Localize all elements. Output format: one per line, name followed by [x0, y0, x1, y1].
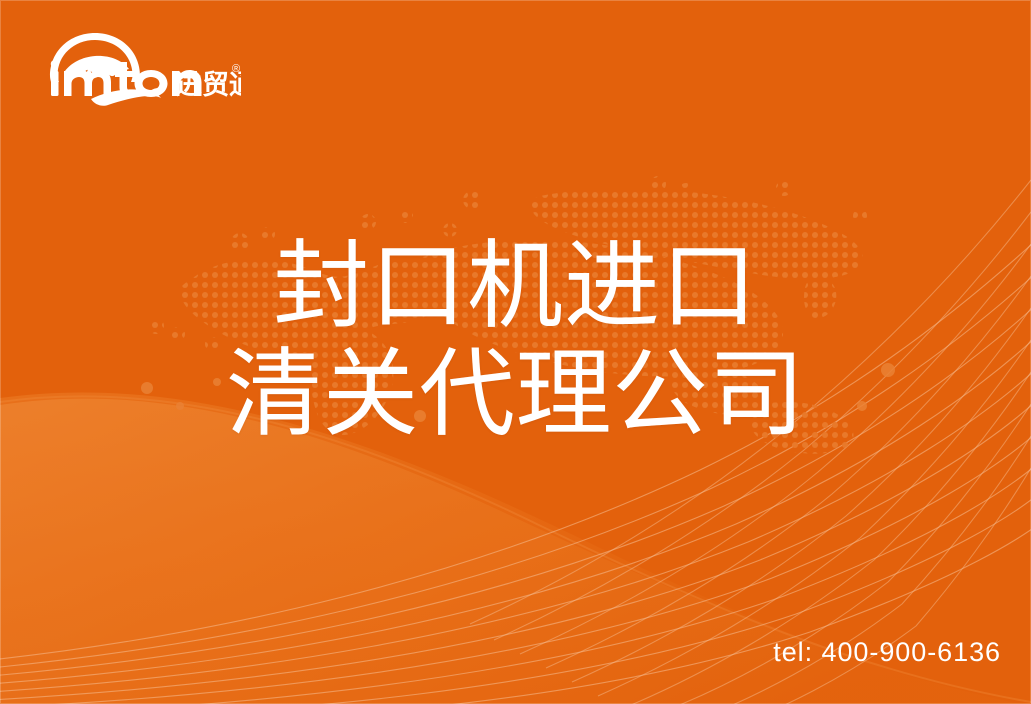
logo-chinese-name: 进贸通 [175, 70, 241, 101]
contact-phone[interactable]: tel: 400-900-6136 [773, 637, 1001, 668]
swoosh-icon [91, 89, 161, 105]
headline-block: 封口机进口 清关代理公司 [0, 232, 1031, 449]
headline-line-2: 清关代理公司 [0, 340, 1031, 448]
headline-line-1: 封口机进口 [0, 232, 1031, 340]
promo-banner: 进贸通 ® 封口机进口 清关代理公司 tel: 400-900-6136 [0, 0, 1031, 704]
logo-trademark-symbol: ® [232, 63, 240, 75]
imton-logo[interactable]: 进贸通 ® [36, 28, 241, 106]
